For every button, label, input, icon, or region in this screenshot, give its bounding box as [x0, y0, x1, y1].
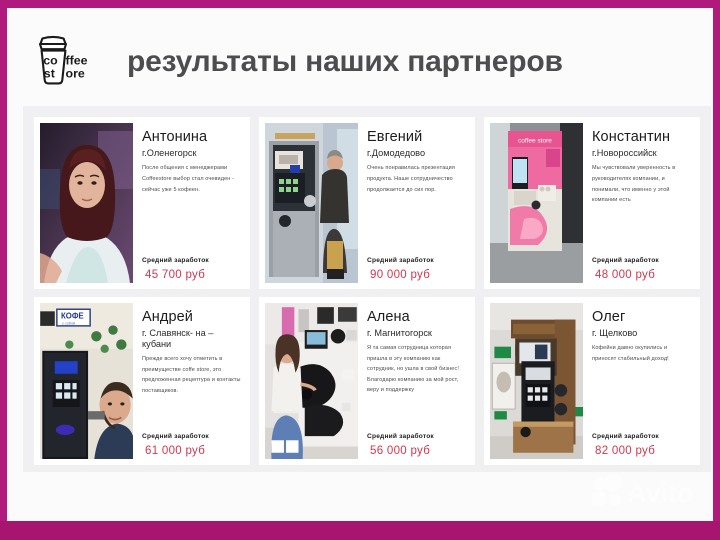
testimonial-name: Андрей — [142, 309, 241, 325]
earnings-value: 56 000 руб — [367, 445, 466, 457]
earnings-label: Средний заработок — [367, 257, 466, 264]
earnings-value: 90 000 руб — [367, 269, 466, 281]
testimonial-quote: После общения с менеджерами Coffeestore … — [142, 163, 241, 195]
testimonial-body: Антонина г.Оленегорск После общения с ме… — [133, 123, 244, 283]
svg-text:st: st — [44, 66, 55, 80]
testimonial-photo — [40, 123, 133, 283]
earnings-value: 82 000 руб — [592, 445, 691, 457]
testimonial-city: г. Славянск- на –кубани — [142, 328, 241, 350]
page-header: co st ffee ore результаты наших партнеро… — [29, 30, 705, 94]
page-root: co st ffee ore результаты наших партнеро… — [0, 0, 720, 540]
spacer — [592, 210, 691, 257]
testimonial-name: Олег — [592, 309, 691, 325]
spacer — [142, 400, 241, 433]
content-sheet: co st ffee ore результаты наших партнеро… — [7, 8, 713, 521]
testimonial-card[interactable]: Олег г. Щелково Кофейни давно окупились … — [484, 297, 700, 465]
svg-text:co: co — [43, 53, 58, 67]
testimonial-card[interactable]: coffee store — [484, 117, 700, 289]
page-title: результаты наших партнеров — [127, 47, 563, 77]
earnings-label: Средний заработок — [367, 433, 466, 440]
testimonial-photo — [265, 123, 358, 283]
testimonial-name: Антонина — [142, 129, 241, 145]
testimonial-city: г.Новороссийск — [592, 148, 691, 159]
testimonial-body: Константин г.Новороссийск Мы чувствовали… — [583, 123, 694, 283]
testimonial-quote: Я та самая сотрудница которая пришла в э… — [367, 343, 466, 395]
svg-text:coffee store: coffee store — [518, 138, 552, 145]
spacer — [367, 199, 466, 257]
testimonial-photo: coffee store — [490, 123, 583, 283]
earnings-value: 61 000 руб — [142, 445, 241, 457]
testimonials-panel: Антонина г.Оленегорск После общения с ме… — [23, 106, 711, 472]
earnings-value: 45 700 руб — [142, 269, 241, 281]
testimonial-photo — [265, 303, 358, 459]
bottom-bar — [0, 521, 720, 540]
testimonial-quote: Кофейни давно окупились и приносят стаби… — [592, 343, 691, 364]
testimonial-city: г. Магнитогорск — [367, 328, 466, 339]
testimonial-city: г.Домодедово — [367, 148, 466, 159]
svg-text:ffee: ffee — [66, 53, 88, 67]
earnings-value: 48 000 руб — [592, 269, 691, 281]
testimonial-quote: Мы чувствовали уверенность в руководител… — [592, 163, 691, 206]
avito-watermark: Avito — [589, 473, 705, 509]
testimonial-body: Евгений г.Домодедово Очень понравилась п… — [358, 123, 469, 283]
testimonial-name: Евгений — [367, 129, 466, 145]
testimonial-photo — [490, 303, 583, 459]
svg-text:Avito: Avito — [627, 478, 694, 508]
earnings-label: Средний заработок — [142, 257, 241, 264]
testimonial-card[interactable]: Евгений г.Домодедово Очень понравилась п… — [259, 117, 475, 289]
testimonial-card[interactable]: Алена г. Магнитогорск Я та самая сотрудн… — [259, 297, 475, 465]
testimonial-city: г.Оленегорск — [142, 148, 241, 159]
testimonial-card[interactable]: КОФЕ с собой — [34, 297, 250, 465]
svg-text:с собой: с собой — [62, 321, 75, 325]
coffee-store-logo-icon: co st ffee ore — [29, 33, 113, 91]
earnings-label: Средний заработок — [592, 257, 691, 264]
testimonial-name: Константин — [592, 129, 691, 145]
testimonial-city: г. Щелково — [592, 328, 691, 339]
testimonial-photo: КОФЕ с собой — [40, 303, 133, 459]
testimonial-body: Алена г. Магнитогорск Я та самая сотрудн… — [358, 303, 469, 459]
spacer — [142, 199, 241, 257]
earnings-label: Средний заработок — [592, 433, 691, 440]
spacer — [592, 368, 691, 433]
svg-text:ore: ore — [66, 66, 85, 80]
svg-text:КОФЕ: КОФЕ — [61, 312, 84, 321]
testimonial-card[interactable]: Антонина г.Оленегорск После общения с ме… — [34, 117, 250, 289]
testimonial-name: Алена — [367, 309, 466, 325]
testimonial-quote: Очень понравилась презентация продукта. … — [367, 163, 466, 195]
testimonial-body: Андрей г. Славянск- на –кубани Прежде вс… — [133, 303, 244, 459]
spacer — [367, 399, 466, 433]
earnings-label: Средний заработок — [142, 433, 241, 440]
testimonials-grid: Антонина г.Оленегорск После общения с ме… — [34, 117, 700, 461]
testimonial-body: Олег г. Щелково Кофейни давно окупились … — [583, 303, 694, 459]
testimonial-quote: Прежде всего хочу отметить в преимуществ… — [142, 354, 241, 396]
